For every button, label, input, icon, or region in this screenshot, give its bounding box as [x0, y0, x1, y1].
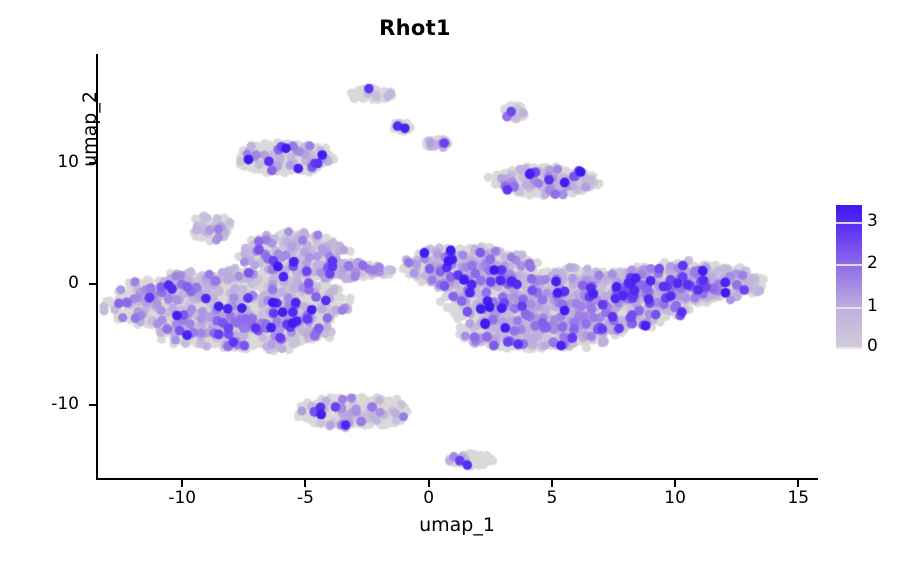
x-axis-label: umap_1: [96, 514, 818, 536]
umap-feature-plot: Rhot1 -10-5051015 100-10 umap_1 umap_2 0…: [0, 0, 911, 562]
x-tick-mark: [674, 480, 676, 487]
x-tick-label: 0: [399, 488, 459, 508]
x-tick-mark: [304, 480, 306, 487]
plot-area: [96, 54, 818, 480]
x-tick-label: 10: [645, 488, 705, 508]
x-tick-mark: [181, 480, 183, 487]
y-tick-label: 10: [0, 152, 83, 172]
x-tick-label: -10: [152, 488, 212, 508]
scatter-plot-canvas: [98, 54, 820, 480]
colorbar-tick-mark: [836, 264, 862, 266]
page-title: Rhot1: [0, 16, 830, 40]
x-tick-mark: [797, 480, 799, 487]
y-tick-mark: [89, 404, 96, 406]
colorbar-tick-label: 3: [867, 211, 878, 231]
colorbar-tick-label: 2: [867, 253, 878, 273]
x-tick-mark: [551, 480, 553, 487]
x-tick-label: -5: [275, 488, 335, 508]
colorbar-tick-mark: [836, 307, 862, 309]
y-tick-mark: [89, 283, 96, 285]
y-tick-label: 0: [0, 273, 83, 293]
y-axis-label: umap_2: [79, 0, 101, 279]
colorbar-tick-label: 1: [867, 296, 878, 316]
y-tick-label: -10: [0, 394, 83, 414]
x-tick-label: 15: [768, 488, 828, 508]
colorbar-tick-label: 0: [867, 336, 878, 356]
colorbar-tick-mark: [836, 222, 862, 224]
colorbar-legend: 0123: [836, 205, 906, 350]
colorbar-tick-mark: [836, 347, 862, 349]
x-tick-mark: [428, 480, 430, 487]
colorbar-gradient: [836, 205, 862, 349]
x-tick-label: 5: [522, 488, 582, 508]
